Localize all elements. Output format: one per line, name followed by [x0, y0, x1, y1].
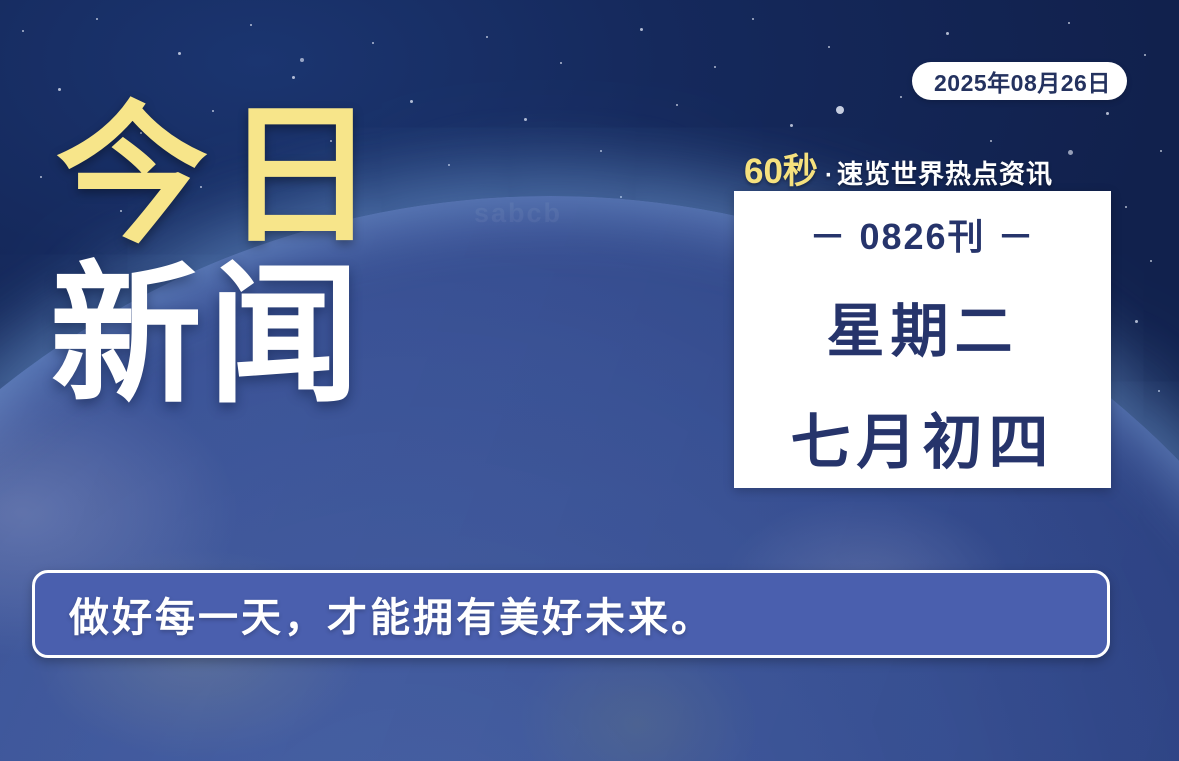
headline-line-2: 新闻	[50, 264, 392, 410]
tagline-text: 速览世界热点资讯	[837, 154, 1053, 191]
tagline: 60秒 · 速览世界热点资讯	[744, 143, 1053, 194]
headline-line-1: 今日	[56, 104, 392, 250]
date-badge: 2025年08月26日	[912, 62, 1127, 100]
tagline-separator: ·	[825, 162, 833, 190]
info-card: － 0826刊 － 星期二 七月初四	[734, 191, 1111, 488]
watermark-text: sabcb	[474, 198, 562, 229]
quote-text: 做好每一天，才能拥有美好未来。	[69, 585, 714, 643]
issue-number: － 0826刊 －	[809, 208, 1035, 260]
lunar-date-label: 七月初四	[791, 394, 1055, 481]
date-badge-label: 2025年08月26日	[934, 64, 1111, 98]
news-poster: sabcb 2025年08月26日 60秒 · 速览世界热点资讯 今日 新闻 －…	[0, 0, 1179, 761]
weekday-label: 星期二	[826, 284, 1018, 368]
quote-banner: 做好每一天，才能拥有美好未来。	[32, 570, 1110, 658]
tagline-seconds: 60秒	[744, 143, 818, 194]
page-title: 今日 新闻	[56, 104, 392, 410]
